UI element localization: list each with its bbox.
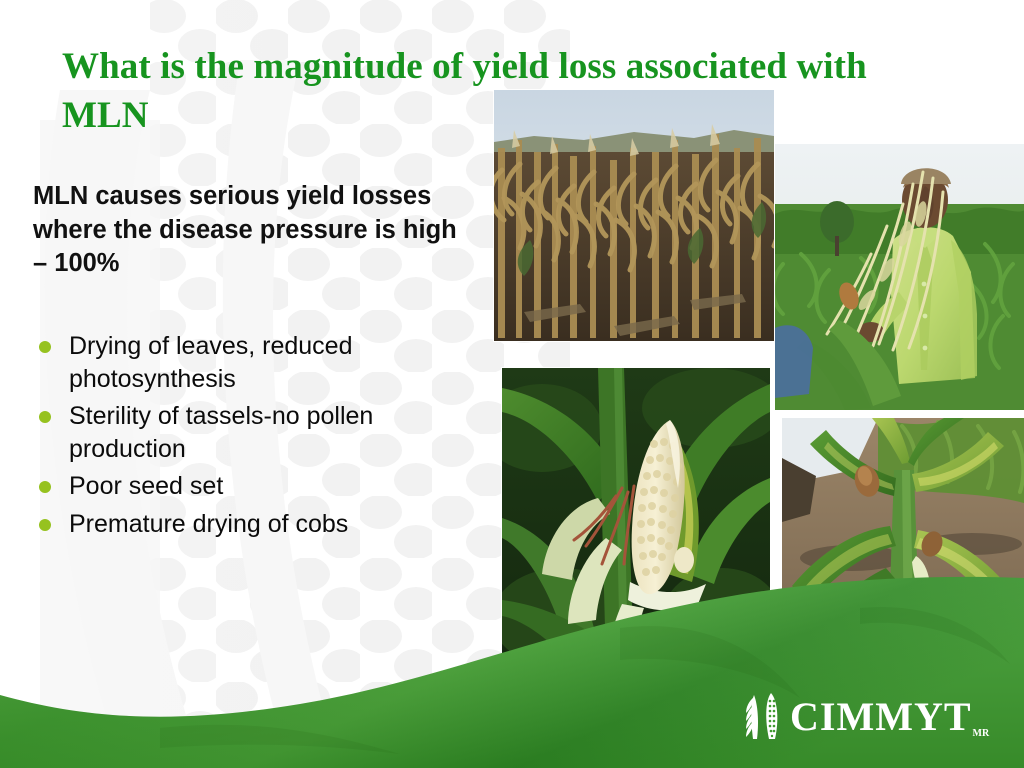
- list-item: Sterility of tassels-no pollen productio…: [33, 400, 483, 465]
- list-item-label: Drying of leaves, reduced photosynthesis: [69, 332, 352, 393]
- bullet-dot-icon: [39, 481, 51, 493]
- list-item: Drying of leaves, reduced photosynthesis: [33, 330, 483, 395]
- symptom-bullet-list: Drying of leaves, reduced photosynthesis…: [33, 330, 483, 545]
- trademark-mark: MR: [973, 728, 990, 739]
- cimmyt-wordmark: CIMMYT: [790, 697, 972, 737]
- lead-statement: MLN causes serious yield losses where th…: [33, 180, 463, 281]
- slide-title: What is the magnitude of yield loss asso…: [62, 42, 962, 140]
- bullet-dot-icon: [39, 411, 51, 423]
- cimmyt-logo: CIMMYT MR: [738, 689, 998, 745]
- farmer-holding-tassels-photo: [775, 144, 1024, 410]
- list-item: Premature drying of cobs: [33, 508, 483, 541]
- bullet-dot-icon: [39, 519, 51, 531]
- list-item: Poor seed set: [33, 470, 483, 503]
- list-item-label: Poor seed set: [69, 472, 223, 500]
- list-item-label: Sterility of tassels-no pollen productio…: [69, 402, 373, 463]
- bullet-dot-icon: [39, 341, 51, 353]
- slide-canvas: What is the magnitude of yield loss asso…: [0, 0, 1024, 768]
- list-item-label: Premature drying of cobs: [69, 510, 348, 538]
- wheat-and-maize-icon: [738, 691, 788, 743]
